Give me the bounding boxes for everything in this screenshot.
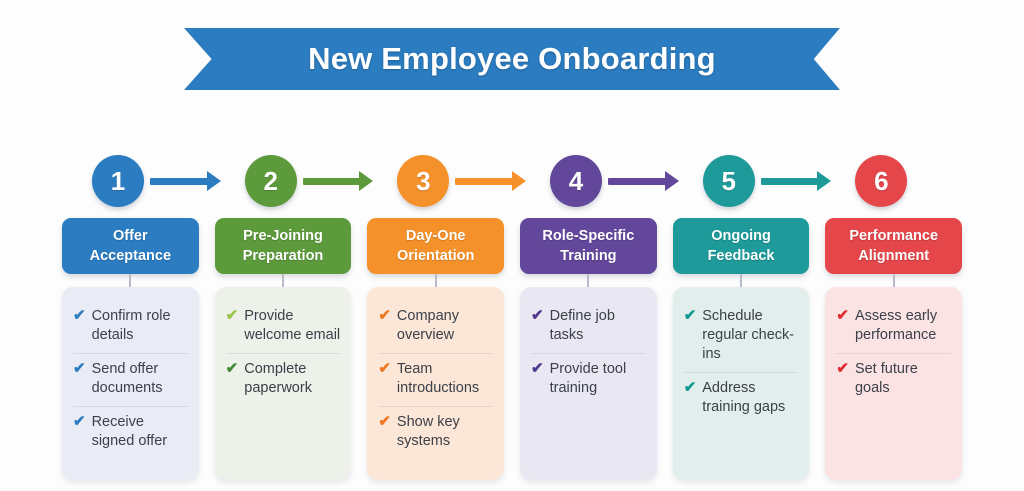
connector-stem bbox=[587, 274, 589, 287]
task-item-label: Team introductions bbox=[397, 360, 493, 398]
check-icon: ✔ bbox=[73, 307, 86, 326]
step-title-line-2: Orientation bbox=[397, 246, 474, 266]
task-item[interactable]: ✔Assess early performance bbox=[836, 301, 951, 354]
page-title: New Employee Onboarding bbox=[308, 41, 716, 77]
check-icon: ✔ bbox=[73, 413, 86, 432]
check-icon: ✔ bbox=[226, 307, 239, 326]
step-header-box[interactable]: Role-SpecificTraining bbox=[520, 218, 657, 274]
process-step-2[interactable]: 2Pre-JoiningPreparation✔Provide welcome … bbox=[215, 150, 352, 480]
task-item-label: Set future goals bbox=[855, 360, 951, 398]
step-header-box[interactable]: OfferAcceptance bbox=[62, 218, 199, 274]
task-item[interactable]: ✔Provide tool training bbox=[531, 354, 646, 406]
check-icon: ✔ bbox=[73, 360, 86, 379]
task-item[interactable]: ✔Complete paperwork bbox=[226, 354, 341, 406]
check-icon: ✔ bbox=[378, 360, 391, 379]
step-number-circle[interactable]: 5 bbox=[703, 155, 755, 207]
step-task-panel: ✔Define job tasks✔Provide tool training bbox=[520, 287, 657, 480]
task-item[interactable]: ✔Provide welcome email bbox=[226, 301, 341, 354]
task-item-label: Show key systems bbox=[397, 413, 493, 451]
connector-stem bbox=[893, 274, 895, 287]
task-item[interactable]: ✔Address training gaps bbox=[684, 373, 799, 425]
process-step-6[interactable]: 6PerformanceAlignment✔Assess early perfo… bbox=[825, 150, 962, 480]
arrow-shaft bbox=[761, 178, 819, 185]
step-title-line-1: Day-One bbox=[406, 226, 466, 246]
check-icon: ✔ bbox=[836, 307, 849, 326]
flow-arrow-icon bbox=[455, 175, 526, 187]
step-title-line-1: Offer bbox=[113, 226, 148, 246]
task-item[interactable]: ✔Send offer documents bbox=[73, 354, 188, 407]
step-marker-row: 2 bbox=[215, 150, 352, 212]
connector-stem bbox=[129, 274, 131, 287]
step-number-circle[interactable]: 3 bbox=[397, 155, 449, 207]
task-item-label: Define job tasks bbox=[550, 307, 646, 345]
title-banner: New Employee Onboarding bbox=[184, 28, 840, 90]
step-title-line-1: Performance bbox=[849, 226, 938, 246]
step-title-line-2: Preparation bbox=[243, 246, 324, 266]
task-item-label: Address training gaps bbox=[702, 379, 798, 417]
connector-stem bbox=[435, 274, 437, 287]
task-item-label: Provide welcome email bbox=[244, 307, 340, 345]
step-marker-row: 3 bbox=[367, 150, 504, 212]
task-item[interactable]: ✔Team introductions bbox=[378, 354, 493, 407]
step-marker-row: 4 bbox=[520, 150, 657, 212]
task-item-label: Complete paperwork bbox=[244, 360, 340, 398]
flow-arrow-icon bbox=[150, 175, 221, 187]
step-title-line-1: Role-Specific bbox=[542, 226, 634, 246]
task-item-label: Provide tool training bbox=[550, 360, 646, 398]
arrow-shaft bbox=[608, 178, 666, 185]
task-item[interactable]: ✔Schedule regular check-ins bbox=[684, 301, 799, 373]
step-task-panel: ✔Provide welcome email✔Complete paperwor… bbox=[215, 287, 352, 480]
process-step-5[interactable]: 5OngoingFeedback✔Schedule regular check-… bbox=[673, 150, 810, 480]
connector-stem bbox=[740, 274, 742, 287]
step-marker-row: 6 bbox=[825, 150, 962, 212]
step-header-box[interactable]: Day-OneOrientation bbox=[367, 218, 504, 274]
task-item[interactable]: ✔Receive signed offer bbox=[73, 407, 188, 459]
task-item-label: Send offer documents bbox=[92, 360, 188, 398]
task-item[interactable]: ✔Show key systems bbox=[378, 407, 493, 459]
step-title-line-2: Alignment bbox=[858, 246, 929, 266]
process-steps-row: 1OfferAcceptance✔Confirm role details✔Se… bbox=[62, 150, 962, 480]
flow-arrow-icon bbox=[761, 175, 832, 187]
task-item-label: Schedule regular check-ins bbox=[702, 307, 798, 364]
step-task-panel: ✔Confirm role details✔Send offer documen… bbox=[62, 287, 199, 480]
task-item-label: Confirm role details bbox=[92, 307, 188, 345]
step-number-circle[interactable]: 4 bbox=[550, 155, 602, 207]
check-icon: ✔ bbox=[684, 307, 697, 326]
step-marker-row: 5 bbox=[673, 150, 810, 212]
process-step-1[interactable]: 1OfferAcceptance✔Confirm role details✔Se… bbox=[62, 150, 199, 480]
task-item[interactable]: ✔Set future goals bbox=[836, 354, 951, 406]
flow-arrow-icon bbox=[608, 175, 679, 187]
step-number-circle[interactable]: 6 bbox=[855, 155, 907, 207]
task-item[interactable]: ✔Confirm role details bbox=[73, 301, 188, 354]
step-marker-row: 1 bbox=[62, 150, 199, 212]
task-item[interactable]: ✔Company overview bbox=[378, 301, 493, 354]
step-header-box[interactable]: PerformanceAlignment bbox=[825, 218, 962, 274]
step-title-line-2: Feedback bbox=[708, 246, 775, 266]
task-item-label: Receive signed offer bbox=[92, 413, 188, 451]
check-icon: ✔ bbox=[684, 379, 697, 398]
check-icon: ✔ bbox=[378, 413, 391, 432]
task-item-label: Company overview bbox=[397, 307, 493, 345]
process-step-4[interactable]: 4Role-SpecificTraining✔Define job tasks✔… bbox=[520, 150, 657, 480]
arrow-shaft bbox=[303, 178, 361, 185]
step-title-line-2: Acceptance bbox=[90, 246, 171, 266]
step-task-panel: ✔Assess early performance✔Set future goa… bbox=[825, 287, 962, 480]
check-icon: ✔ bbox=[226, 360, 239, 379]
step-task-panel: ✔Schedule regular check-ins✔Address trai… bbox=[673, 287, 810, 480]
process-step-3[interactable]: 3Day-OneOrientation✔Company overview✔Tea… bbox=[367, 150, 504, 480]
connector-stem bbox=[282, 274, 284, 287]
step-header-box[interactable]: Pre-JoiningPreparation bbox=[215, 218, 352, 274]
step-title-line-1: Ongoing bbox=[711, 226, 771, 246]
task-item[interactable]: ✔Define job tasks bbox=[531, 301, 646, 354]
step-header-box[interactable]: OngoingFeedback bbox=[673, 218, 810, 274]
arrow-shaft bbox=[455, 178, 513, 185]
step-task-panel: ✔Company overview✔Team introductions✔Sho… bbox=[367, 287, 504, 480]
step-number-circle[interactable]: 2 bbox=[245, 155, 297, 207]
check-icon: ✔ bbox=[531, 360, 544, 379]
check-icon: ✔ bbox=[378, 307, 391, 326]
task-item-label: Assess early performance bbox=[855, 307, 951, 345]
arrow-shaft bbox=[150, 178, 208, 185]
step-title-line-1: Pre-Joining bbox=[243, 226, 323, 246]
title-banner-region: New Employee Onboarding bbox=[0, 28, 1024, 100]
flow-arrow-icon bbox=[303, 175, 374, 187]
check-icon: ✔ bbox=[531, 307, 544, 326]
step-number-circle[interactable]: 1 bbox=[92, 155, 144, 207]
step-title-line-2: Training bbox=[560, 246, 616, 266]
check-icon: ✔ bbox=[836, 360, 849, 379]
